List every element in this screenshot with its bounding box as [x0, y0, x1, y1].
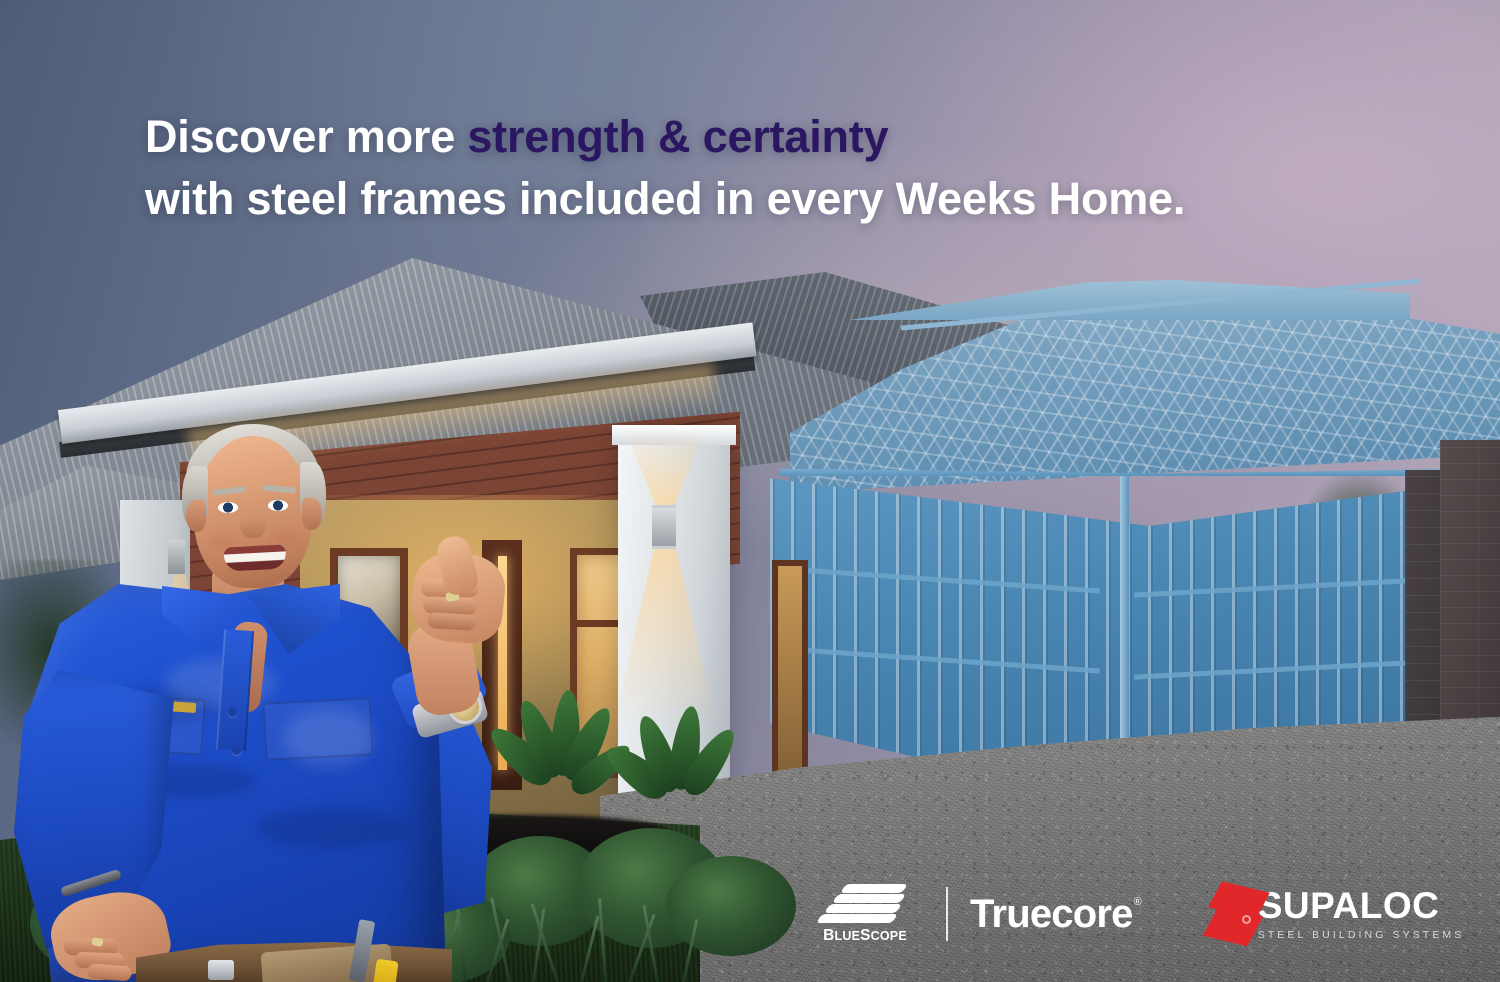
- nose: [240, 504, 266, 538]
- ear-left: [186, 500, 206, 532]
- shirt-button: [232, 746, 241, 755]
- headline-line-1: Discover more strength & certainty: [145, 106, 1405, 168]
- steel-frame-structure: [790, 278, 1500, 798]
- feature-plant-center: [500, 690, 620, 850]
- supaloc-flag-icon: [1208, 885, 1270, 943]
- bluescope-wave-icon: [817, 884, 913, 924]
- logo-divider: [946, 887, 948, 941]
- headline-white-part: Discover more: [145, 111, 467, 162]
- banner-stage: Discover more strength & certainty with …: [0, 0, 1500, 982]
- bluescope-wordmark: BLUESCOPE: [823, 927, 907, 945]
- truecore-wordmark: Truecore: [970, 894, 1133, 934]
- steel-corner-post: [1120, 476, 1129, 776]
- belt-buckle: [208, 960, 234, 980]
- logo-bar: BLUESCOPE Truecore ® SUPALOC STEEL BUILD…: [806, 878, 1464, 950]
- eye-right: [268, 500, 288, 511]
- headline-line-2: with steel frames included in every Week…: [145, 168, 1405, 230]
- eye-left: [218, 502, 238, 513]
- supaloc-text-block: SUPALOC STEEL BUILDING SYSTEMS: [1258, 887, 1465, 941]
- bluescope-logo: BLUESCOPE: [806, 884, 924, 945]
- headline: Discover more strength & certainty with …: [145, 106, 1405, 230]
- shirt-button: [228, 708, 237, 717]
- supaloc-wordmark: SUPALOC: [1258, 887, 1465, 924]
- truecore-logo: Truecore ®: [970, 894, 1142, 934]
- supaloc-logo: SUPALOC STEEL BUILDING SYSTEMS: [1208, 885, 1465, 943]
- ear-right: [302, 498, 322, 530]
- yellow-tool: [371, 959, 398, 982]
- registered-trademark-icon: ®: [1134, 896, 1142, 908]
- presenter-figure: [16, 408, 516, 982]
- supaloc-tagline: STEEL BUILDING SYSTEMS: [1258, 929, 1465, 941]
- wall-light-main: [652, 505, 676, 549]
- window-right: [772, 560, 808, 800]
- shirt-pocket-right: [263, 697, 374, 761]
- headline-navy-part: strength & certainty: [467, 111, 888, 162]
